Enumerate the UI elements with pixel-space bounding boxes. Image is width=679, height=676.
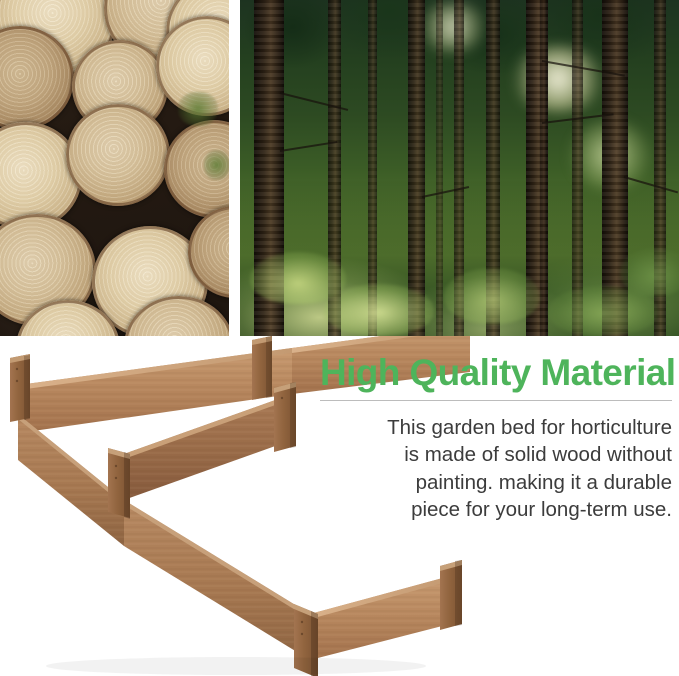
divider-rule	[320, 400, 672, 401]
corner-post	[252, 336, 272, 400]
tree-trunk	[540, 0, 547, 336]
moss-patch	[204, 150, 229, 180]
corner-post	[440, 560, 462, 630]
page-title: High Quality Material	[320, 354, 672, 391]
description-line: This garden bed for horticulture	[320, 414, 672, 441]
sunlight-patch	[510, 46, 606, 112]
sunlight-patch	[418, 2, 488, 52]
corner-post	[274, 382, 296, 452]
photo-band	[0, 0, 679, 336]
feature-text-block: High Quality Material This garden bed fo…	[320, 354, 672, 524]
description-line: painting. making it a durable	[320, 469, 672, 496]
corner-post	[10, 354, 30, 422]
feature-description: This garden bed for horticulture is made…	[320, 414, 672, 524]
log-end	[66, 104, 170, 206]
forest-photo	[240, 0, 679, 336]
fern-clump	[620, 248, 679, 296]
fern-clump	[324, 284, 434, 336]
product-shadow	[46, 657, 426, 675]
description-line: is made of solid wood without	[320, 441, 672, 468]
tree-trunk	[436, 0, 443, 336]
bed-front-wall-right	[124, 500, 310, 660]
tree-trunk	[572, 0, 583, 336]
content-section: High Quality Material This garden bed fo…	[0, 336, 679, 676]
fern-clump	[444, 268, 540, 324]
moss-patch	[178, 92, 218, 126]
bed-right-end-wall	[310, 576, 450, 660]
product-feature-image: High Quality Material This garden bed fo…	[0, 0, 679, 676]
corner-post	[108, 448, 130, 519]
stacked-logs-photo	[0, 0, 229, 336]
description-line: piece for your long-term use.	[320, 496, 672, 523]
tree-trunk	[408, 0, 425, 336]
